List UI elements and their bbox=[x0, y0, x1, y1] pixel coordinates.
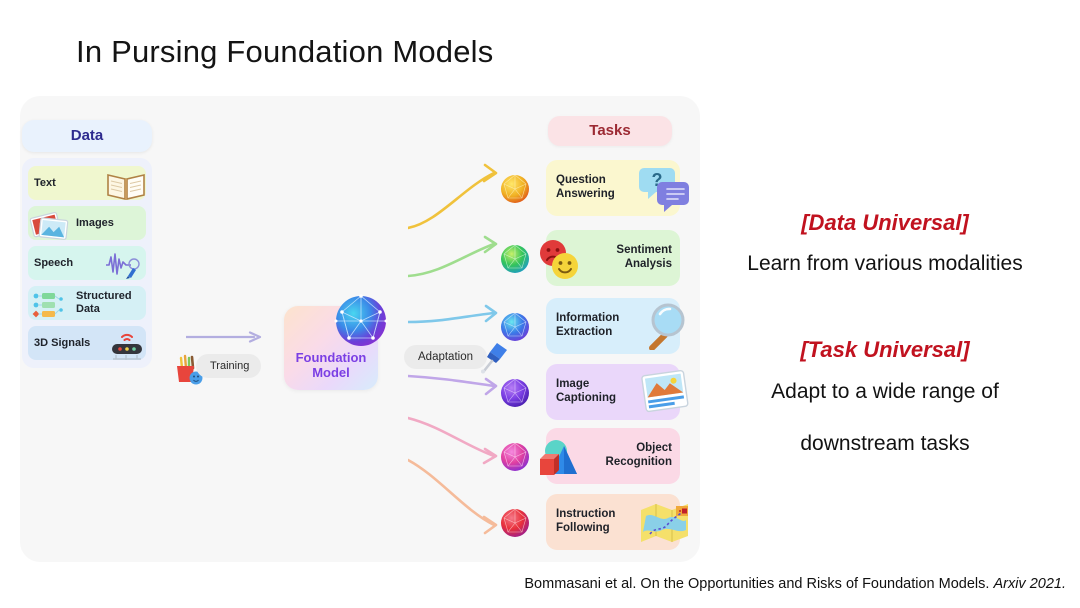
citation: Bommasani et al. On the Opportunities an… bbox=[0, 576, 1066, 592]
task-label-line2: Answering bbox=[556, 188, 615, 200]
task-box: Object Recognition bbox=[546, 428, 680, 484]
modality-row-3d-signals: 3D Signals bbox=[28, 326, 146, 360]
data-modality-list: Text bbox=[22, 158, 152, 368]
task-label-line2: Recognition bbox=[606, 456, 672, 468]
data-universal-body: Learn from various modalities bbox=[690, 252, 1080, 276]
data-section: Data Text bbox=[22, 120, 152, 368]
task-label: Instruction Following bbox=[546, 508, 615, 536]
task-item-image-captioning: Image Captioning bbox=[498, 364, 680, 420]
training-label-pill: Training bbox=[196, 354, 261, 378]
task-sphere-icon bbox=[498, 242, 532, 276]
magnifier-icon bbox=[638, 302, 692, 350]
training-arrow bbox=[186, 330, 264, 344]
task-label-line1: Image bbox=[556, 378, 589, 390]
modality-label: Speech bbox=[34, 257, 73, 270]
task-universal-heading: [Task Universal] bbox=[700, 337, 1070, 363]
modality-label: Images bbox=[76, 217, 114, 230]
task-item-instruction-following: Instruction Following bbox=[498, 494, 680, 550]
task-label-line2: Extraction bbox=[556, 326, 612, 338]
task-box: Question Answering ? bbox=[546, 160, 680, 216]
task-box: Information Extraction bbox=[546, 298, 680, 354]
training-label: Training bbox=[210, 360, 249, 372]
task-label-line1: Sentiment bbox=[616, 244, 672, 256]
task-universal-body-line1: Adapt to a wide range of bbox=[690, 380, 1080, 404]
task-sphere-icon bbox=[498, 172, 532, 206]
modality-label: 3D Signals bbox=[34, 337, 90, 350]
3d-shapes-icon bbox=[534, 434, 588, 482]
task-label-line1: Question bbox=[556, 174, 606, 186]
task-box: Image Captioning bbox=[546, 364, 680, 420]
modality-label: Structured Data bbox=[76, 290, 140, 315]
lidar-sensor-icon bbox=[104, 328, 144, 358]
tasks-section-header: Tasks bbox=[548, 116, 672, 146]
task-label-line2: Analysis bbox=[625, 258, 672, 270]
task-label-line2: Captioning bbox=[556, 392, 616, 404]
emoji-faces-icon bbox=[534, 236, 588, 284]
task-label-line2: Following bbox=[556, 522, 610, 534]
task-item-question-answering: Question Answering ? bbox=[498, 160, 680, 216]
foundation-model-box: Foundation Model bbox=[284, 306, 378, 390]
task-item-information-extraction: Information Extraction bbox=[498, 298, 680, 354]
citation-venue: Arxiv 2021. bbox=[993, 576, 1066, 592]
modality-row-text: Text bbox=[28, 166, 146, 200]
task-label: Sentiment Analysis bbox=[616, 244, 680, 272]
task-item-object-recognition: Object Recognition bbox=[498, 428, 680, 484]
task-label: Question Answering bbox=[546, 174, 615, 202]
folded-map-icon bbox=[638, 498, 692, 546]
foundation-model-label-line2: Model bbox=[284, 366, 378, 381]
open-book-icon bbox=[104, 168, 144, 198]
task-label-line1: Information bbox=[556, 312, 619, 324]
task-sphere-icon bbox=[498, 376, 532, 410]
modality-row-images: Images bbox=[28, 206, 146, 240]
task-label-line1: Instruction bbox=[556, 508, 615, 520]
task-sphere-icon bbox=[498, 506, 532, 540]
task-universal-body-line2: downstream tasks bbox=[690, 432, 1080, 456]
node-graph-icon bbox=[28, 288, 68, 318]
data-universal-heading: [Data Universal] bbox=[700, 210, 1070, 236]
task-label: Object Recognition bbox=[606, 442, 680, 470]
network-sphere-icon bbox=[330, 290, 392, 352]
task-box: Instruction Following bbox=[546, 494, 680, 550]
photos-stack-icon bbox=[28, 208, 68, 238]
task-sphere-icon bbox=[498, 310, 532, 344]
page-title: In Pursing Foundation Models bbox=[76, 34, 493, 70]
data-section-header: Data bbox=[22, 120, 152, 152]
task-box: Sentiment Analysis bbox=[546, 230, 680, 286]
foundation-model-label: Foundation Model bbox=[284, 351, 378, 381]
task-sphere-icon bbox=[498, 440, 532, 474]
task-label-line1: Object bbox=[636, 442, 672, 454]
picture-frame-icon bbox=[638, 368, 692, 416]
modality-label: Text bbox=[34, 177, 56, 190]
foundation-model-label-line1: Foundation bbox=[284, 351, 378, 366]
modality-row-speech: Speech bbox=[28, 246, 146, 280]
citation-text: Bommasani et al. On the Opportunities an… bbox=[524, 576, 993, 592]
task-label: Image Captioning bbox=[546, 378, 616, 406]
waveform-mic-icon bbox=[104, 248, 144, 278]
chat-bubbles-question-icon: ? bbox=[638, 164, 692, 212]
task-item-sentiment-analysis: Sentiment Analysis bbox=[498, 230, 680, 286]
modality-row-structured-data: Structured Data bbox=[28, 286, 146, 320]
task-label: Information Extraction bbox=[546, 312, 619, 340]
